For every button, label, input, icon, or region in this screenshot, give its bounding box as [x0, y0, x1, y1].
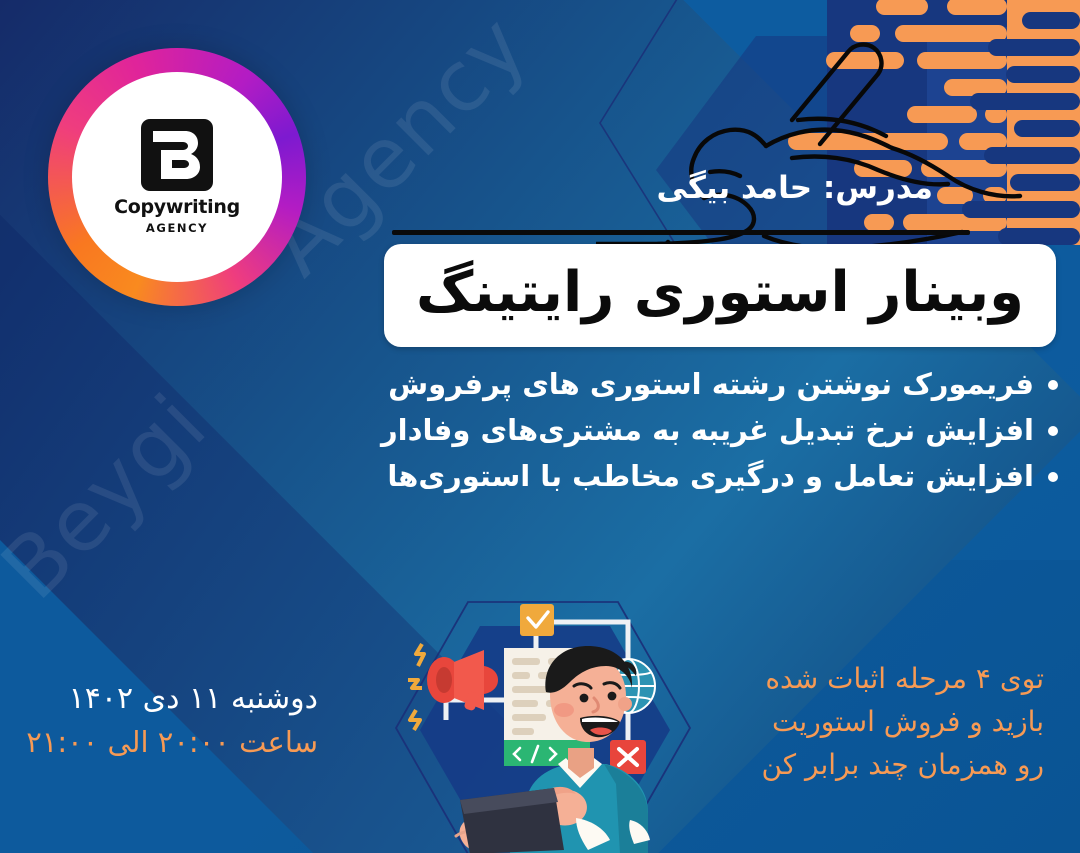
presenter-illustration [398, 588, 688, 853]
schedule-time: ساعت ۲۰:۰۰ الی ۲۱:۰۰ [0, 721, 318, 765]
pitch-block: توی ۴ مرحله اثبات شده بازید و فروش استور… [761, 658, 1044, 786]
title-divider-rule [392, 230, 970, 235]
bullet-dot-icon [1048, 426, 1058, 436]
list-item-label: افزایش تعامل و درگیری مخاطب با استوری‌ها [387, 454, 1034, 500]
tablet-icon [460, 788, 564, 853]
list-item: افزایش تعامل و درگیری مخاطب با استوری‌ها [318, 454, 1058, 500]
feature-list: فریمورک نوشتن رشته استوری های پرفروش افز… [318, 362, 1058, 499]
sound-wave-icon [408, 644, 424, 730]
schedule-date: دوشنبه ۱۱ دی ۱۴۰۲ [0, 676, 318, 721]
page-title: وبینار استوری رایتینگ [416, 265, 1024, 327]
schedule-block: دوشنبه ۱۱ دی ۱۴۰۲ ساعت ۲۰:۰۰ الی ۲۱:۰۰ [0, 676, 350, 765]
bullet-dot-icon [1048, 380, 1058, 390]
title-card: وبینار استوری رایتینگ [384, 244, 1056, 347]
pitch-line-3: رو همزمان چند برابر کن [761, 744, 1044, 787]
list-item: افزایش نرخ تبدیل غریبه به مشتری‌های وفاد… [318, 408, 1058, 454]
checkmark-box-icon [520, 604, 554, 636]
brand-logo-name: Copywriting [114, 198, 240, 217]
bullet-dot-icon [1048, 472, 1058, 482]
list-item-label: فریمورک نوشتن رشته استوری های پرفروش [388, 362, 1034, 408]
pitch-line-1: توی ۴ مرحله اثبات شده [761, 658, 1044, 701]
list-item-label: افزایش نرخ تبدیل غریبه به مشتری‌های وفاد… [381, 408, 1034, 454]
b-monogram-icon [141, 119, 213, 191]
brand-logo-subtitle: AGENCY [146, 221, 208, 235]
poster-canvas: Agency Beygi Copywriting AGENCY [0, 0, 1080, 853]
writing-hand-illustration [596, 24, 1066, 260]
instructor-label: مدرس: حامد بیگی [657, 170, 933, 206]
brand-logo-inner: Copywriting AGENCY [72, 72, 282, 282]
pitch-line-2: بازید و فروش استوریت [761, 701, 1044, 744]
list-item: فریمورک نوشتن رشته استوری های پرفروش [318, 362, 1058, 408]
brand-logo: Copywriting AGENCY [48, 48, 306, 306]
